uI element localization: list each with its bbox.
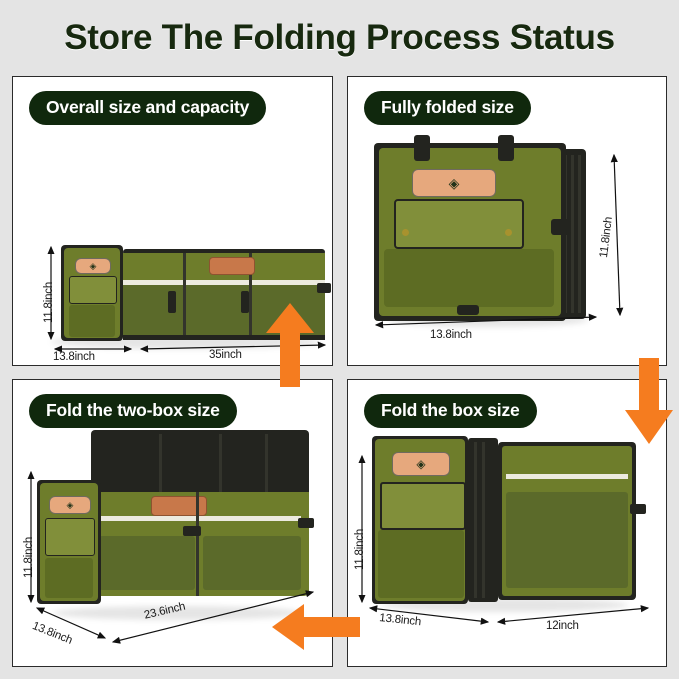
flow-arrow-down-icon — [625, 358, 673, 444]
dimension-height: 11.8inch — [43, 282, 55, 323]
panel-label-fold-the-two-box-size: Fold the two-box size — [29, 394, 237, 428]
panel-label-fold-the-box-size: Fold the box size — [364, 394, 537, 428]
dimension-width: 12inch — [546, 620, 579, 632]
panel-fold-the-box-size: ◈ 11.8inch 13.8inch 12inch Fold the box … — [347, 379, 667, 667]
dimension-width: 35inch — [209, 349, 242, 361]
panel-label-fully-folded-size: Fully folded size — [364, 91, 531, 125]
dimension-height: 11.8inch — [354, 529, 366, 570]
dimension-width: 13.8inch — [430, 329, 472, 341]
panel-label-overall-size-and-capacity: Overall size and capacity — [29, 91, 266, 125]
panel-fully-folded-size: ◈ 11.8inch 13.8inch Fully folded size — [347, 76, 667, 366]
dimension-height: 11.8inch — [23, 537, 35, 578]
flow-arrow-up-icon — [266, 303, 314, 387]
dimension-depth: 13.8inch — [53, 351, 95, 363]
page-title: Store The Folding Process Status — [0, 18, 679, 58]
flow-arrow-left-icon — [272, 604, 360, 650]
